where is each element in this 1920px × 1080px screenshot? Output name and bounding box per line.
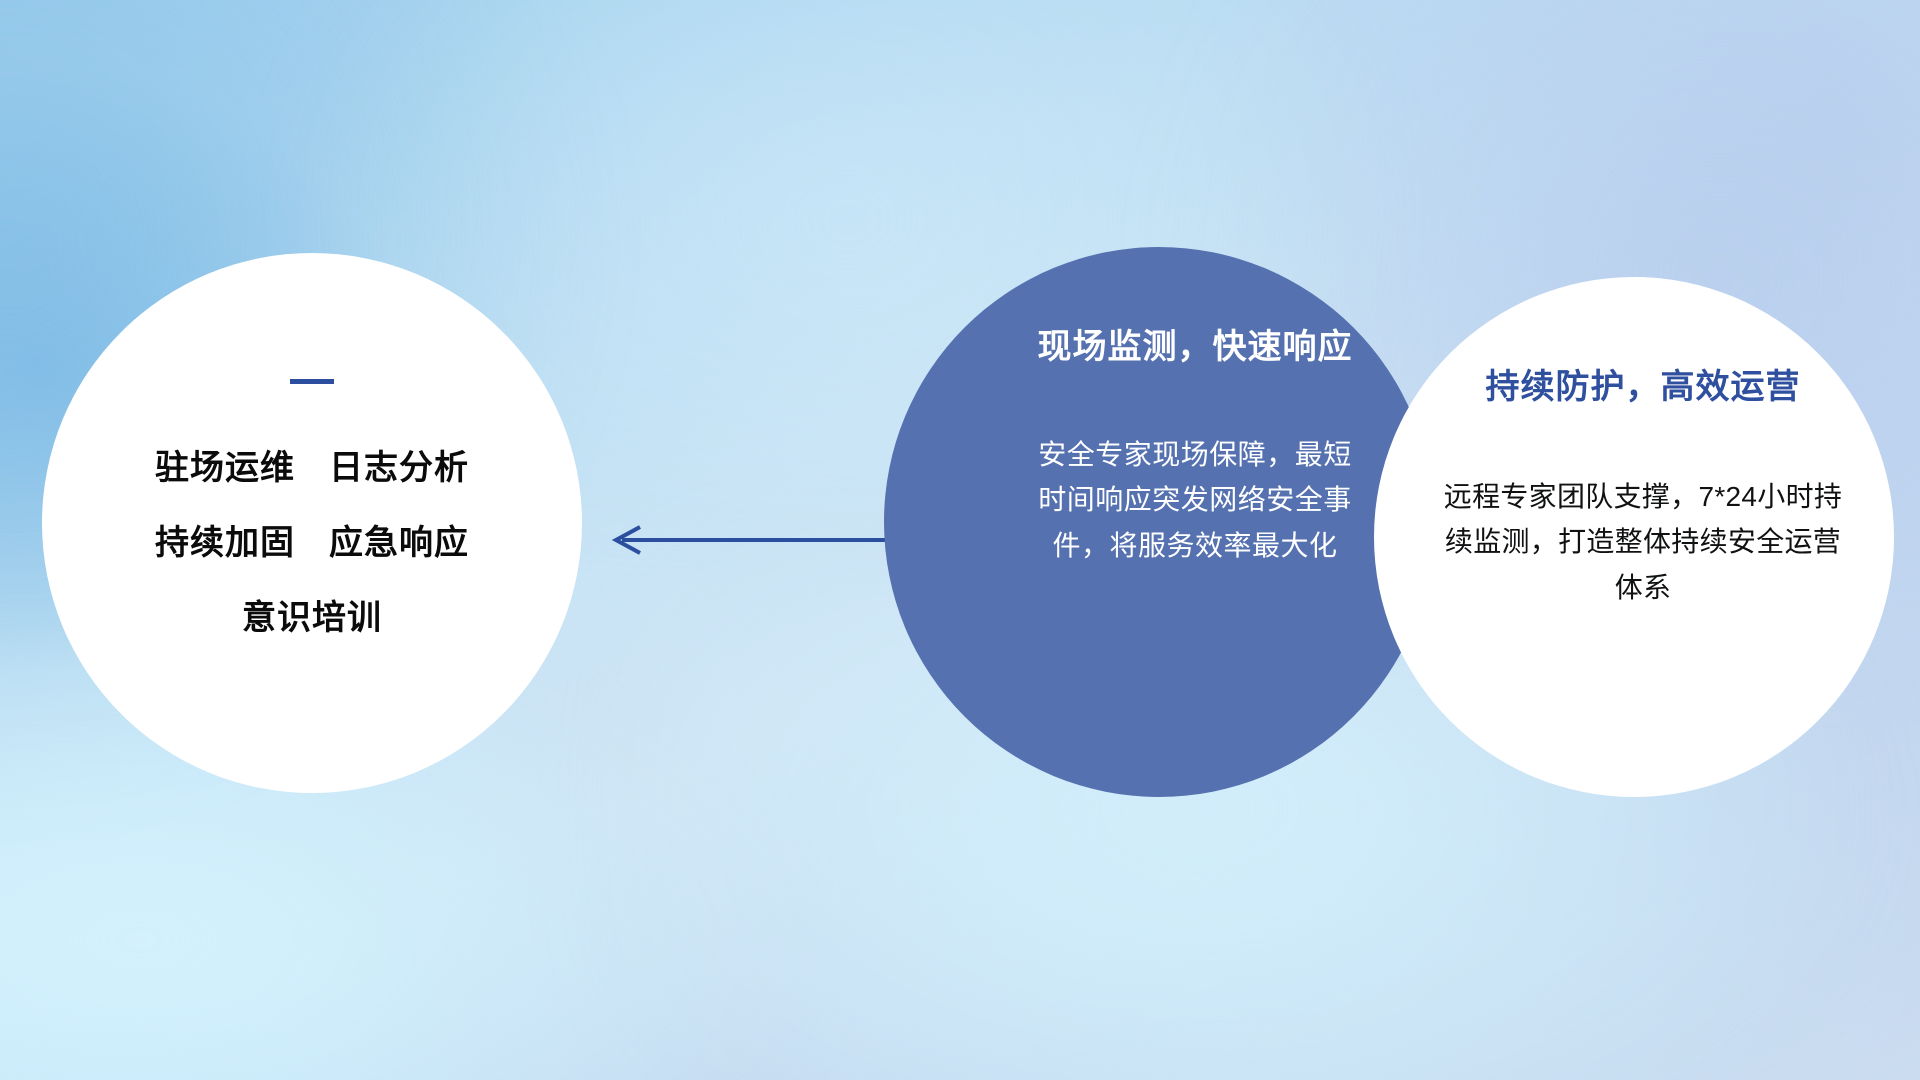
capability-tag: 应急响应: [329, 515, 469, 564]
middle-circle-title: 现场监测，快速响应: [1038, 319, 1353, 368]
right-circle-content: 持续防护，高效运营 远程专家团队支撑，7*24小时持续监测，打造整体持续安全运营…: [1374, 277, 1894, 797]
capability-row: 驻场运维 日志分析: [155, 440, 469, 489]
arrow-left-icon: [600, 520, 890, 560]
middle-circle-content: 现场监测，快速响应 安全专家现场保障，最短时间响应突发网络安全事件，将服务效率最…: [884, 247, 1434, 797]
left-circle-card[interactable]: 驻场运维 日志分析 持续加固 应急响应 意识培训: [42, 253, 582, 793]
capability-tag: 日志分析: [329, 440, 469, 489]
left-circle-content: 驻场运维 日志分析 持续加固 应急响应 意识培训: [42, 253, 582, 793]
capability-row: 持续加固 应急响应: [155, 515, 469, 564]
right-circle-body: 远程专家团队支撑，7*24小时持续监测，打造整体持续安全运营体系: [1443, 474, 1843, 610]
capability-tag: 意识培训: [242, 590, 382, 639]
right-circle-title: 持续防护，高效运营: [1486, 359, 1801, 408]
capability-row: 意识培训: [242, 590, 382, 639]
connector-arrow: [600, 520, 890, 560]
capability-tag: 持续加固: [155, 515, 295, 564]
middle-circle-card[interactable]: 现场监测，快速响应 安全专家现场保障，最短时间响应突发网络安全事件，将服务效率最…: [884, 247, 1434, 797]
capability-tag: 驻场运维: [155, 440, 295, 489]
capability-list: 驻场运维 日志分析 持续加固 应急响应 意识培训: [155, 440, 469, 639]
right-circle-card[interactable]: 持续防护，高效运营 远程专家团队支撑，7*24小时持续监测，打造整体持续安全运营…: [1374, 277, 1894, 797]
middle-circle-body: 安全专家现场保障，最短时间响应突发网络安全事件，将服务效率最大化: [1035, 432, 1355, 568]
divider-dash-icon: [290, 379, 334, 384]
slide-canvas: 现场监测，快速响应 安全专家现场保障，最短时间响应突发网络安全事件，将服务效率最…: [0, 0, 1920, 1080]
